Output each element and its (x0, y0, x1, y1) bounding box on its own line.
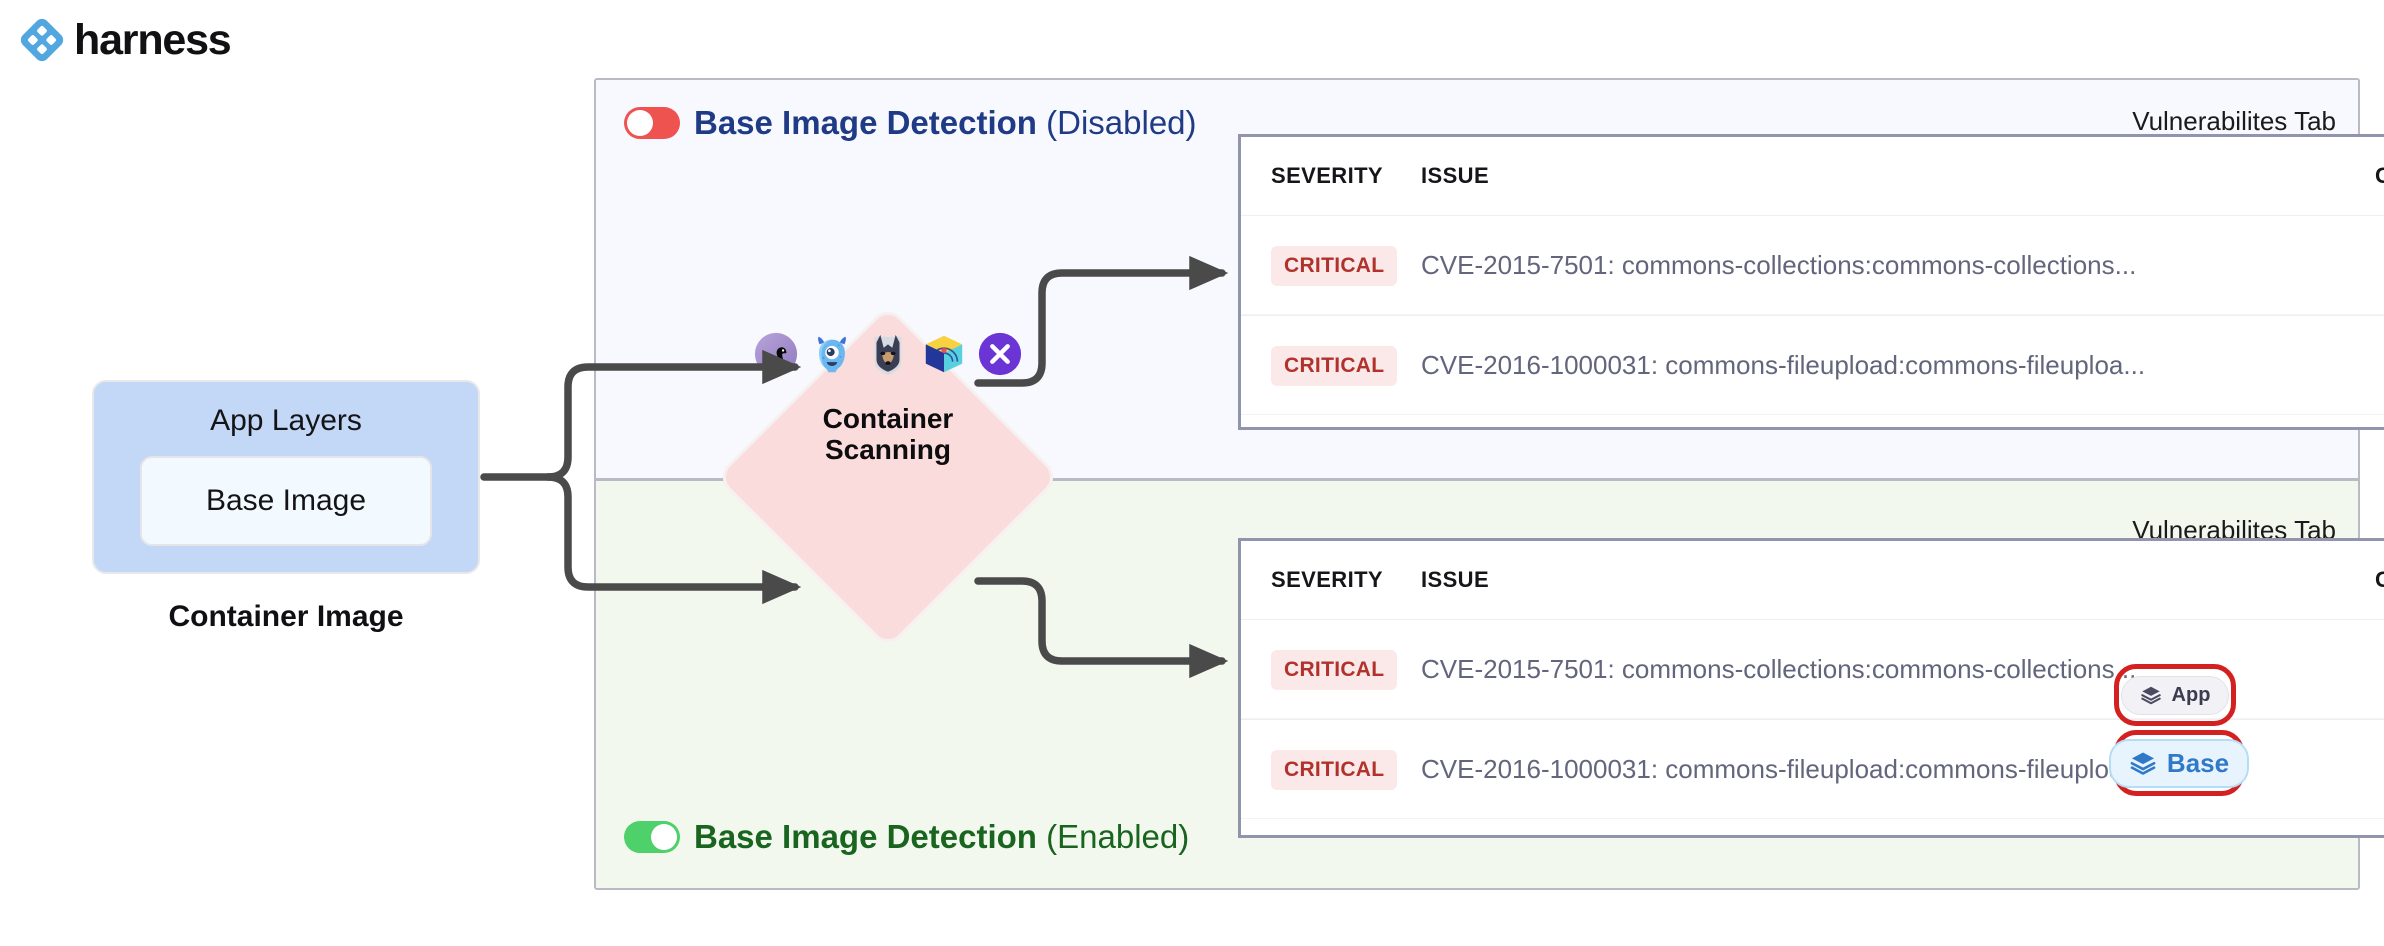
toggle-switch-off[interactable] (624, 107, 680, 139)
prisma-cloud-x-icon (977, 331, 1023, 377)
base-image-detection-toggle-enabled[interactable]: Base Image Detection (Enabled) (624, 820, 1189, 853)
issue-text: CVE-2016-1000031: commons-fileupload:com… (1421, 350, 2145, 380)
column-header-issue: ISSUE (1421, 163, 1489, 188)
table-header-row: SEVERITY ISSUE C (1241, 137, 2384, 215)
toggle-label-strong: Base Image Detection (694, 818, 1037, 855)
toggle-label-state: (Enabled) (1046, 818, 1189, 855)
vulnerabilities-tab-caption-top: Vulnerabilites Tab (2132, 106, 2336, 137)
toggle-label-strong: Base Image Detection (694, 104, 1037, 141)
toggle-knob (627, 110, 653, 136)
toggle-label-enabled: Base Image Detection (Enabled) (694, 820, 1189, 853)
status-badge: CRITICAL (1271, 346, 1397, 386)
scanning-title-line2: Scanning (823, 434, 954, 465)
layer-tag-base[interactable]: Base (2109, 739, 2249, 788)
layer-tag-label: App (2172, 684, 2211, 707)
status-badge: CRITICAL (1271, 650, 1397, 690)
layer-tag-app[interactable]: App (2121, 676, 2230, 715)
issue-text: CVE-2015-7501: commons-collections:commo… (1421, 250, 2136, 280)
toggle-switch-on[interactable] (624, 821, 680, 853)
app-tag-highlight: App (2114, 664, 2236, 726)
base-image-box: Base Image (140, 456, 432, 546)
trivy-monster-icon (809, 331, 855, 377)
column-header-issue: ISSUE (1421, 567, 1489, 592)
harness-logo: harness (20, 18, 231, 62)
grype-duck-icon (753, 331, 799, 377)
status-badge: CRITICAL (1271, 750, 1397, 790)
column-header-severity: SEVERITY (1271, 163, 1383, 188)
table-row[interactable]: CRITICAL CVE-2015-7501: commons-collecti… (1241, 215, 2384, 315)
base-image-detection-toggle-disabled[interactable]: Base Image Detection (Disabled) (624, 106, 1197, 139)
column-header-severity: SEVERITY (1271, 567, 1383, 592)
scanning-title-line1: Container (823, 403, 954, 434)
harness-diamond-logo-icon (20, 18, 64, 62)
layers-icon (2129, 749, 2157, 777)
toggle-label-disabled: Base Image Detection (Disabled) (694, 106, 1197, 139)
status-badge: CRITICAL (1271, 246, 1397, 286)
layers-icon (2140, 684, 2162, 706)
base-image-label: Base Image (206, 484, 366, 518)
toggle-label-state: (Disabled) (1046, 104, 1196, 141)
table-row[interactable]: CRITICAL CVE-2016-1000031: commons-fileu… (1241, 315, 2384, 415)
container-image-caption: Container Image (92, 600, 480, 634)
issue-text: CVE-2016-1000031: commons-fileupload:com… (1421, 754, 2145, 784)
scanner-icons (753, 331, 1023, 377)
container-image-block: App Layers Base Image (92, 380, 480, 574)
harness-wordmark: harness (74, 19, 231, 62)
container-scanning-node: Container Scanning (716, 295, 1060, 659)
aqua-doberman-icon (865, 331, 911, 377)
column-header-clipped: C (2375, 163, 2384, 188)
app-layers-label: App Layers (210, 404, 362, 438)
base-tag-highlight: Base (2114, 730, 2244, 796)
table-header-row: SEVERITY ISSUE C (1241, 541, 2384, 619)
snyk-cube-icon (921, 331, 967, 377)
column-header-clipped: C (2375, 567, 2384, 592)
container-scanning-label: Container Scanning (823, 403, 954, 466)
vulnerabilities-table-disabled: SEVERITY ISSUE C CRITICAL CVE-2015-7501:… (1238, 134, 2384, 430)
layer-tag-label: Base (2167, 748, 2229, 779)
toggle-knob (651, 824, 677, 850)
issue-text: CVE-2015-7501: commons-collections:commo… (1421, 654, 2136, 684)
